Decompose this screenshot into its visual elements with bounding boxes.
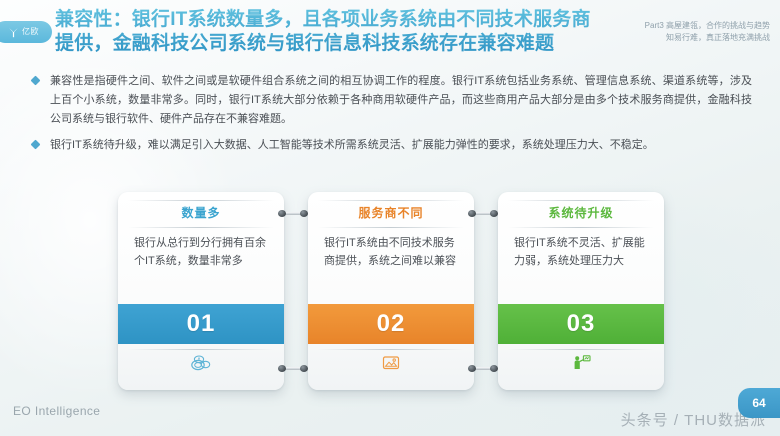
- connector-knob-right: [300, 210, 308, 217]
- card-icon-slot: [508, 352, 654, 378]
- y-sprout-icon: [7, 26, 20, 39]
- page-number: 64: [752, 396, 765, 410]
- connector-pin: [468, 365, 498, 372]
- connector-knob-left: [468, 365, 476, 372]
- card-item-1[interactable]: 数量多 银行从总行到分行拥有百余个IT系统，数量非常多 01: [118, 192, 284, 390]
- connector-pin: [468, 210, 498, 217]
- connector-pin: [278, 365, 308, 372]
- divider: [128, 349, 274, 350]
- card-number: 03: [567, 312, 596, 336]
- person-presenting-icon: [570, 354, 592, 377]
- divider: [318, 349, 464, 350]
- brand-logo-text: 亿欧: [22, 28, 39, 36]
- divider: [318, 200, 464, 201]
- connector-knob-left: [468, 210, 476, 217]
- coins-icon: [190, 355, 212, 376]
- bullet-list: 兼容性是指硬件之间、软件之间或是软硬件组合系统之间的相互协调工作的程度。银行IT…: [30, 72, 752, 162]
- divider: [508, 349, 654, 350]
- divider: [128, 200, 274, 201]
- page-title: 兼容性：银行IT系统数量多，且各项业务系统由不同技术服务商提供，金融科技公司系统…: [55, 8, 600, 56]
- divider: [318, 227, 464, 228]
- card-number-bar: 03: [498, 304, 664, 344]
- slide: 亿欧 兼容性：银行IT系统数量多，且各项业务系统由不同技术服务商提供，金融科技公…: [0, 0, 780, 436]
- card-number-bar: 02: [308, 304, 474, 344]
- connector-knob-right: [490, 210, 498, 217]
- card-body-text: 银行IT系统由不同技术服务商提供，系统之间难以兼容: [324, 234, 460, 270]
- section-label: Part3 高屋建瓴，合作的挑战与趋势 知易行难，真正落地充满挑战: [590, 20, 770, 44]
- card-icon-slot: [318, 352, 464, 378]
- card-icon-slot: [128, 352, 274, 378]
- bullet-text: 兼容性是指硬件之间、软件之间或是软硬件组合系统之间的相互协调工作的程度。银行IT…: [50, 72, 752, 129]
- card-body-text: 银行IT系统不灵活、扩展能力弱，系统处理压力大: [514, 234, 650, 270]
- bullet-item: 银行IT系统待升级，难以满足引入大数据、人工智能等技术所需系统灵活、扩展能力弹性…: [30, 136, 752, 155]
- divider: [508, 200, 654, 201]
- divider: [508, 227, 654, 228]
- footer-brand: EO Intelligence: [13, 404, 100, 418]
- slide-header: 亿欧 兼容性：银行IT系统数量多，且各项业务系统由不同技术服务商提供，金融科技公…: [0, 0, 780, 62]
- section-label-line2: 知易行难，真正落地充满挑战: [590, 32, 770, 44]
- section-label-line1: Part3 高屋建瓴，合作的挑战与趋势: [590, 20, 770, 32]
- bullet-item: 兼容性是指硬件之间、软件之间或是软硬件组合系统之间的相互协调工作的程度。银行IT…: [30, 72, 752, 129]
- card-item-3[interactable]: 系统待升级 银行IT系统不灵活、扩展能力弱，系统处理压力大 03: [498, 192, 664, 390]
- card-item-2[interactable]: 服务商不同 银行IT系统由不同技术服务商提供，系统之间难以兼容 02: [308, 192, 474, 390]
- divider: [128, 227, 274, 228]
- connector-knob-left: [278, 365, 286, 372]
- card-number-bar: 01: [118, 304, 284, 344]
- bullet-text: 银行IT系统待升级，难以满足引入大数据、人工智能等技术所需系统灵活、扩展能力弹性…: [50, 136, 752, 155]
- diamond-bullet-icon: [31, 140, 41, 150]
- brand-logo: 亿欧: [0, 21, 52, 43]
- card-title: 服务商不同: [318, 205, 464, 222]
- picture-icon: [381, 354, 401, 376]
- connector-knob-right: [300, 365, 308, 372]
- card-title: 数量多: [128, 205, 274, 222]
- card-group: 数量多 银行从总行到分行拥有百余个IT系统，数量非常多 01: [118, 192, 664, 392]
- card-number: 02: [377, 312, 406, 336]
- card-title: 系统待升级: [508, 205, 654, 222]
- connector-knob-right: [490, 365, 498, 372]
- connector-knob-left: [278, 210, 286, 217]
- connector-pin: [278, 210, 308, 217]
- card-title-text: 服务商不同: [358, 206, 423, 220]
- diamond-bullet-icon: [31, 76, 41, 86]
- card-title-text: 系统待升级: [548, 206, 613, 220]
- page-number-badge: 64: [738, 388, 780, 418]
- card-title-text: 数量多: [181, 206, 220, 220]
- card-body-text: 银行从总行到分行拥有百余个IT系统，数量非常多: [134, 234, 270, 270]
- card-number: 01: [187, 312, 216, 336]
